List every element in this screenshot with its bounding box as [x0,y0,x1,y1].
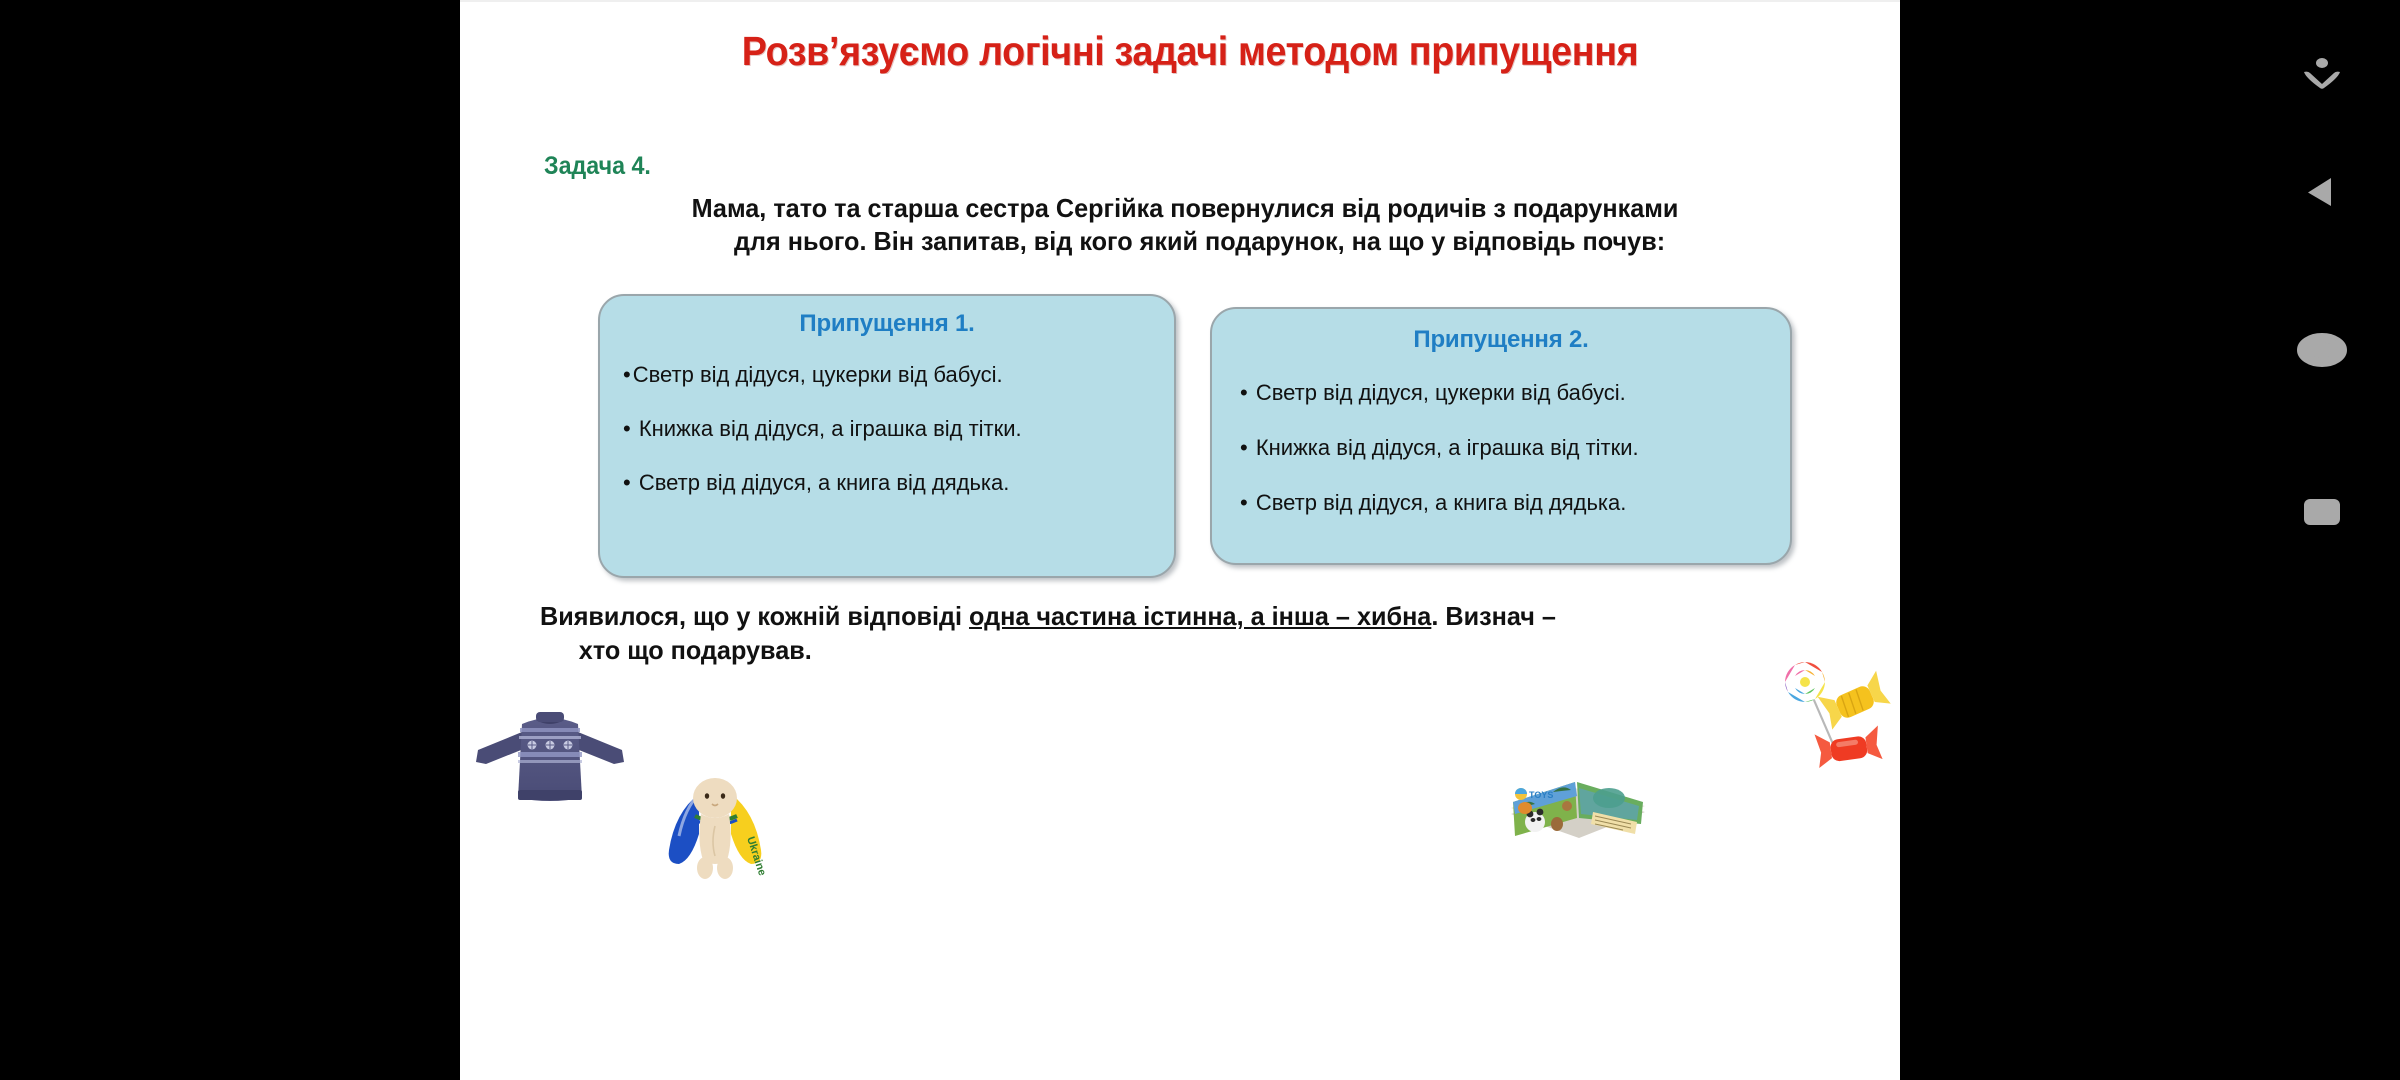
assumption-1-item-1: Светр від дідуся, цукерки від бабусі. [633,362,1003,387]
assumption-1-title: Припущення 1. [600,310,1174,338]
list-item: • Светр від дідуся, а книга від дядька. [623,470,1174,496]
list-item: • Светр від дідуся, цукерки від бабусі. [1240,380,1790,406]
page-title: Розв’язуємо логічні задачі методом припу… [620,28,1761,75]
android-navigation-bar [1900,0,2400,1080]
assumption-1-item-2: Книжка від дідуся, а іграшка від тітки. [639,416,1022,441]
conclusion-paragraph: Виявилося, що у кожній відповіді одна ча… [540,600,1791,668]
bullet-icon: • [1240,490,1248,515]
conclusion-underlined-text: одна частина істинна, а інша – хибна [969,601,1431,631]
intro-paragraph: Мама, тато та старша сестра Сергійка пов… [559,192,1810,259]
bullet-icon: • [1240,435,1248,460]
sweater-image [470,702,630,812]
conclusion-line-2: хто що подарував. [540,634,1791,668]
book-image: TOYS [1505,744,1650,854]
bullet-icon: • [623,362,631,387]
intro-line-1: Мама, тато та старша сестра Сергійка пов… [692,193,1679,223]
device-screen: Розв’язуємо логічні задачі методом припу… [0,0,2400,1080]
bullet-icon: • [1240,380,1248,405]
bullet-icon: • [623,470,631,495]
assumption-box-1: Припущення 1. •Светр від дідуся, цукерки… [598,294,1176,578]
assumption-2-title: Припущення 2. [1212,326,1790,354]
task-label: Задача 4. [544,152,651,181]
assumption-2-item-3: Светр від дідуся, а книга від дядька. [1256,490,1627,515]
assumption-1-item-3: Светр від дідуся, а книга від дядька. [639,470,1010,495]
collapse-handle-icon[interactable] [2290,42,2354,106]
svg-text:TOYS: TOYS [1529,790,1553,800]
candy-image [1785,660,1900,770]
assumption-2-item-1: Светр від дідуся, цукерки від бабусі. [1256,380,1626,405]
conclusion-text-before: Виявилося, що у кожній відповіді [540,601,969,631]
intro-line-2: для нього. Він запитав, від кого який по… [559,225,1810,258]
assumption-2-item-2: Книжка від дідуся, а іграшка від тітки. [1256,435,1639,460]
bullet-icon: • [623,416,631,441]
list-item: • Светр від дідуся, а книга від дядька. [1240,490,1790,516]
bunny-toy-image: Ukraine [655,764,775,884]
conclusion-text-after: . Визнач – [1431,601,1556,631]
list-item: • Книжка від дідуся, а іграшка від тітки… [623,416,1174,442]
home-button[interactable] [2290,318,2354,382]
assumption-2-list: • Светр від дідуся, цукерки від бабусі. … [1212,380,1790,516]
assumption-box-2: Припущення 2. • Светр від дідуся, цукерк… [1210,307,1792,565]
recent-apps-button[interactable] [2290,480,2354,544]
back-button[interactable] [2290,160,2354,224]
list-item: • Книжка від дідуся, а іграшка від тітки… [1240,435,1790,461]
assumption-1-list: •Светр від дідуся, цукерки від бабусі. •… [600,362,1174,496]
list-item: •Светр від дідуся, цукерки від бабусі. [623,362,1174,388]
slide-canvas: Розв’язуємо логічні задачі методом припу… [460,0,1900,1080]
book-logo-icon: TOYS [1515,788,1553,800]
